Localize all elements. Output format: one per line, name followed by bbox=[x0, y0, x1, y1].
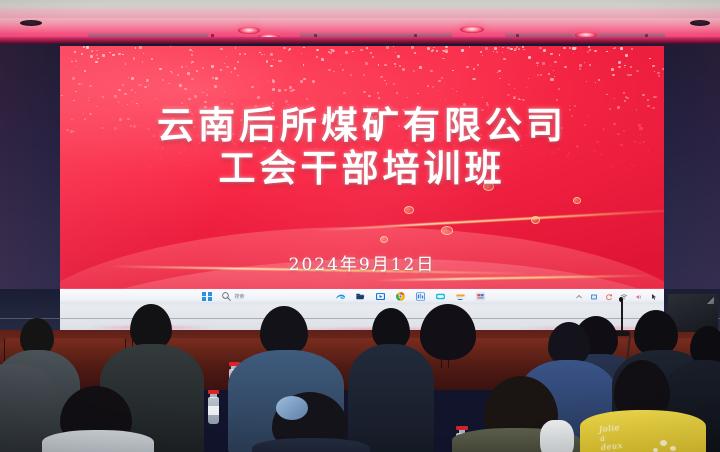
confetti-particle bbox=[624, 67, 626, 68]
confetti-particle bbox=[75, 60, 77, 62]
confetti-particle bbox=[264, 54, 265, 55]
confetti-particle bbox=[237, 61, 240, 63]
confetti-particle bbox=[363, 91, 366, 94]
confetti-particle bbox=[482, 55, 483, 56]
confetti-particle bbox=[184, 88, 187, 91]
confetti-particle bbox=[86, 46, 89, 48]
confetti-particle bbox=[536, 62, 539, 64]
confetti-particle bbox=[131, 77, 134, 80]
confetti-particle bbox=[102, 54, 105, 56]
ceiling-downlight bbox=[460, 26, 484, 33]
confetti-particle bbox=[618, 66, 621, 69]
confetti-particle bbox=[125, 63, 126, 64]
confetti-particle bbox=[330, 52, 333, 54]
confetti-particle bbox=[303, 78, 306, 81]
confetti-particle bbox=[588, 46, 590, 48]
confetti-particle bbox=[579, 68, 581, 70]
confetti-particle bbox=[558, 88, 560, 90]
confetti-particle bbox=[452, 70, 453, 71]
confetti-particle bbox=[443, 50, 445, 52]
confetti-particle bbox=[131, 89, 133, 91]
confetti-particle bbox=[653, 96, 656, 99]
confetti-particle bbox=[508, 84, 510, 86]
confetti-particle bbox=[96, 54, 99, 56]
confetti-particle bbox=[306, 98, 308, 100]
confetti-particle bbox=[394, 63, 396, 65]
confetti-particle bbox=[441, 77, 444, 79]
confetti-particle bbox=[102, 96, 104, 98]
confetti-particle bbox=[539, 47, 542, 49]
confetti-particle bbox=[345, 51, 348, 54]
confetti-particle bbox=[266, 60, 269, 62]
confetti-particle bbox=[257, 96, 260, 98]
confetti-particle bbox=[363, 74, 366, 76]
confetti-particle bbox=[513, 96, 516, 99]
hair-scrunchie bbox=[276, 396, 308, 420]
confetti-particle bbox=[159, 68, 162, 71]
ceiling-downlight-off bbox=[690, 20, 710, 26]
confetti-particle bbox=[192, 51, 193, 52]
confetti-particle bbox=[74, 51, 76, 53]
confetti-particle bbox=[523, 49, 525, 51]
white-collar bbox=[540, 420, 574, 452]
confetti-particle bbox=[636, 70, 639, 73]
screen-title-line-1: 云南后所煤矿有限公司 bbox=[60, 104, 664, 146]
confetti-particle bbox=[647, 99, 649, 101]
confetti-particle bbox=[445, 46, 448, 48]
confetti-particle bbox=[402, 68, 405, 71]
confetti-particle bbox=[278, 60, 281, 63]
confetti-particle bbox=[395, 52, 396, 53]
led-screen: 云南后所煤矿有限公司 工会干部培训班 2024年9月12日 bbox=[60, 46, 664, 289]
confetti-particle bbox=[606, 51, 608, 53]
confetti-particle bbox=[378, 97, 380, 99]
confetti-particle bbox=[620, 47, 623, 50]
confetti-particle bbox=[273, 59, 274, 60]
confetti-particle bbox=[485, 47, 488, 50]
confetti-particle bbox=[386, 46, 389, 49]
confetti-particle bbox=[316, 49, 319, 52]
confetti-particle bbox=[553, 70, 554, 71]
confetti-particle bbox=[510, 48, 512, 50]
confetti-particle bbox=[554, 61, 557, 64]
confetti-particle bbox=[234, 67, 237, 69]
confetti-particle bbox=[188, 98, 191, 100]
confetti-particle bbox=[572, 47, 575, 50]
confetti-particle bbox=[328, 69, 331, 72]
confetti-particle bbox=[548, 73, 550, 75]
confetti-particle bbox=[92, 51, 93, 52]
confetti-particle bbox=[393, 46, 395, 47]
confetti-particle bbox=[143, 53, 144, 54]
confetti-particle bbox=[300, 80, 303, 83]
confetti-particle bbox=[461, 49, 464, 52]
confetti-particle bbox=[109, 52, 111, 53]
confetti-particle bbox=[473, 68, 475, 70]
confetti-particle bbox=[399, 65, 401, 66]
confetti-particle bbox=[550, 78, 553, 81]
confetti-particle bbox=[542, 62, 545, 65]
confetti-particle bbox=[507, 94, 510, 97]
confetti-particle bbox=[122, 84, 125, 86]
confetti-particle bbox=[118, 53, 121, 56]
confetti-particle bbox=[657, 72, 659, 74]
confetti-particle bbox=[370, 52, 373, 54]
confetti-particle bbox=[214, 85, 217, 88]
jacket-flower-motif bbox=[660, 440, 667, 446]
confetti-particle bbox=[497, 72, 498, 73]
confetti-particle bbox=[340, 64, 341, 65]
confetti-particle bbox=[629, 74, 632, 76]
confetti-particle bbox=[360, 49, 363, 51]
confetti-particle bbox=[321, 58, 324, 61]
confetti-particle bbox=[124, 93, 126, 95]
confetti-particle bbox=[251, 86, 253, 88]
confetti-particle bbox=[118, 89, 120, 91]
confetti-particle bbox=[135, 47, 137, 49]
confetti-particle bbox=[272, 79, 274, 81]
confetti-particle bbox=[611, 68, 614, 71]
confetti-particle bbox=[278, 89, 281, 92]
confetti-particle bbox=[88, 97, 89, 98]
confetti-particle bbox=[244, 53, 246, 55]
jacket-print-text: Jolie a deux bbox=[599, 423, 624, 452]
confetti-particle bbox=[496, 51, 499, 53]
confetti-particle bbox=[352, 51, 354, 53]
confetti-particle bbox=[514, 88, 515, 89]
confetti-particle bbox=[498, 70, 500, 72]
confetti-particle bbox=[151, 58, 154, 60]
confetti-particle bbox=[438, 90, 439, 91]
confetti-particle bbox=[144, 86, 147, 89]
confetti-particle bbox=[589, 64, 591, 66]
confetti-particle bbox=[612, 74, 614, 76]
confetti-particle bbox=[333, 71, 334, 72]
confetti-particle bbox=[186, 66, 188, 68]
confetti-particle bbox=[82, 83, 83, 84]
confetti-particle bbox=[350, 74, 352, 76]
confetti-particle bbox=[519, 99, 521, 100]
confetti-particle bbox=[528, 78, 529, 79]
confetti-particle bbox=[652, 65, 654, 67]
confetti-particle bbox=[419, 66, 422, 69]
confetti-particle bbox=[386, 83, 388, 84]
confetti-particle bbox=[614, 47, 617, 49]
confetti-particle bbox=[170, 46, 171, 47]
confetti-particle bbox=[482, 97, 484, 98]
confetti-particle bbox=[202, 67, 205, 69]
confetti-particle bbox=[226, 56, 227, 57]
confetti-particle bbox=[550, 65, 551, 66]
confetti-particle bbox=[194, 95, 197, 98]
confetti-particle bbox=[95, 61, 98, 64]
confetti-particle bbox=[83, 46, 85, 48]
confetti-particle bbox=[466, 66, 469, 69]
confetti-particle bbox=[384, 80, 386, 81]
confetti-particle bbox=[301, 53, 303, 54]
confetti-particle bbox=[477, 64, 479, 66]
confetti-particle bbox=[502, 52, 504, 54]
confetti-particle bbox=[303, 64, 305, 65]
confetti-particle bbox=[480, 51, 482, 53]
confetti-particle bbox=[202, 92, 204, 94]
confetti-particle bbox=[368, 95, 371, 98]
audience: Jolie a deux bbox=[0, 300, 720, 452]
confetti-particle bbox=[303, 47, 305, 49]
confetti-particle bbox=[288, 49, 290, 51]
confetti-particle bbox=[146, 79, 149, 82]
confetti-particle bbox=[289, 86, 292, 89]
confetti-particle bbox=[114, 95, 117, 98]
confetti-particle bbox=[211, 65, 214, 68]
confetti-particle bbox=[411, 46, 414, 49]
confetti-particle bbox=[614, 98, 615, 99]
confetti-particle bbox=[220, 48, 223, 51]
confetti-particle bbox=[414, 52, 416, 54]
confetti-particle bbox=[543, 49, 546, 52]
confetti-particle bbox=[563, 47, 566, 50]
confetti-particle bbox=[226, 66, 228, 68]
confetti-particle bbox=[642, 94, 645, 97]
confetti-particle bbox=[445, 51, 448, 53]
confetti-particle bbox=[191, 78, 193, 80]
confetti-particle bbox=[196, 70, 198, 72]
conference-room-photo: 云南后所煤矿有限公司 工会干部培训班 2024年9月12日 搜索 bbox=[0, 0, 720, 452]
confetti-particle bbox=[407, 97, 409, 98]
confetti-particle bbox=[433, 47, 435, 49]
confetti-particle bbox=[573, 53, 574, 54]
confetti-particle bbox=[625, 54, 628, 57]
confetti-particle bbox=[556, 99, 558, 101]
confetti-particle bbox=[579, 64, 582, 67]
confetti-particle bbox=[133, 57, 136, 59]
confetti-particle bbox=[270, 65, 273, 68]
confetti-particle bbox=[312, 80, 315, 83]
confetti-particle bbox=[235, 47, 237, 48]
confetti-particle bbox=[237, 75, 238, 76]
confetti-particle bbox=[438, 80, 441, 82]
confetti-particle bbox=[162, 79, 165, 81]
confetti-particle bbox=[528, 56, 531, 59]
confetti-particle bbox=[649, 58, 651, 60]
confetti-particle bbox=[191, 54, 193, 56]
confetti-particle bbox=[135, 92, 137, 93]
confetti-particle bbox=[61, 95, 63, 97]
confetti-particle bbox=[624, 65, 626, 67]
ceiling-band bbox=[0, 18, 720, 32]
confetti-particle bbox=[427, 47, 430, 50]
confetti-particle bbox=[537, 74, 540, 76]
confetti-particle bbox=[73, 100, 75, 102]
confetti-particle bbox=[624, 100, 626, 102]
gold-bubble bbox=[573, 197, 581, 204]
confetti-particle bbox=[168, 83, 170, 84]
confetti-particle bbox=[343, 92, 346, 95]
confetti-particle bbox=[179, 84, 182, 87]
confetti-particle bbox=[658, 75, 661, 77]
confetti-particle bbox=[417, 93, 419, 94]
confetti-particle bbox=[239, 53, 242, 55]
confetti-particle bbox=[456, 91, 457, 92]
confetti-particle bbox=[181, 66, 183, 68]
confetti-particle bbox=[177, 74, 180, 76]
screen-title-block: 云南后所煤矿有限公司 工会干部培训班 bbox=[60, 104, 664, 190]
confetti-particle bbox=[559, 54, 561, 56]
confetti-particle bbox=[598, 79, 600, 81]
confetti-particle bbox=[122, 54, 124, 56]
confetti-particle bbox=[97, 58, 99, 59]
confetti-particle bbox=[493, 51, 494, 52]
confetti-particle bbox=[432, 86, 435, 88]
confetti-particle bbox=[268, 80, 270, 81]
confetti-particle bbox=[606, 94, 607, 95]
confetti-particle bbox=[393, 83, 395, 85]
search-placeholder-text: 搜索 bbox=[235, 293, 245, 300]
confetti-particle bbox=[292, 89, 295, 91]
confetti-particle bbox=[443, 58, 445, 60]
confetti-particle bbox=[380, 76, 382, 78]
confetti-particle bbox=[112, 54, 115, 56]
confetti-particle bbox=[88, 100, 90, 101]
confetti-particle bbox=[365, 62, 368, 65]
confetti-particle bbox=[191, 63, 193, 64]
confetti-particle bbox=[494, 47, 497, 50]
confetti-particle bbox=[395, 66, 397, 67]
confetti-particle bbox=[522, 99, 524, 101]
confetti-particle bbox=[618, 61, 621, 64]
confetti-particle bbox=[569, 47, 571, 49]
confetti-particle bbox=[366, 47, 368, 49]
confetti-particle bbox=[503, 58, 506, 61]
confetti-particle bbox=[514, 50, 516, 52]
confetti-particle bbox=[518, 48, 520, 50]
jacket-flower-motif bbox=[670, 446, 676, 451]
confetti-particle bbox=[215, 77, 218, 80]
ceiling bbox=[0, 0, 720, 46]
jacket-flower-motif bbox=[653, 448, 658, 452]
confetti-particle bbox=[330, 49, 331, 50]
confetti-particle bbox=[372, 56, 374, 58]
confetti-particle bbox=[586, 81, 587, 82]
confetti-particle bbox=[72, 77, 75, 79]
confetti-particle bbox=[430, 70, 432, 72]
confetti-particle bbox=[587, 51, 589, 52]
confetti-particle bbox=[540, 74, 543, 76]
confetti-particle bbox=[132, 101, 134, 102]
confetti-particle bbox=[436, 50, 438, 52]
confetti-particle bbox=[631, 48, 633, 50]
confetti-particle bbox=[84, 70, 87, 72]
confetti-particle bbox=[630, 66, 632, 68]
confetti-particle bbox=[156, 98, 157, 99]
confetti-particle bbox=[90, 55, 93, 58]
confetti-particle bbox=[654, 71, 655, 72]
confetti-particle bbox=[78, 83, 81, 86]
gold-bubble bbox=[380, 236, 388, 243]
confetti-particle bbox=[396, 92, 398, 94]
confetti-particle bbox=[316, 56, 318, 57]
confetti-particle bbox=[283, 47, 286, 49]
confetti-particle bbox=[526, 87, 527, 88]
confetti-particle bbox=[537, 65, 538, 66]
confetti-particle bbox=[584, 62, 585, 63]
confetti-particle bbox=[469, 46, 471, 48]
confetti-particle bbox=[427, 85, 429, 87]
confetti-particle bbox=[206, 94, 208, 96]
confetti-particle bbox=[499, 78, 500, 79]
confetti-particle bbox=[397, 55, 400, 58]
confetti-particle bbox=[148, 85, 149, 86]
confetti-particle bbox=[554, 76, 555, 77]
confetti-particle bbox=[284, 89, 287, 91]
confetti-particle bbox=[231, 71, 233, 72]
confetti-particle bbox=[564, 66, 566, 68]
confetti-particle bbox=[270, 53, 273, 55]
confetti-particle bbox=[502, 47, 503, 48]
confetti-particle bbox=[384, 64, 387, 67]
confetti-particle bbox=[442, 53, 443, 54]
confetti-particle bbox=[413, 70, 415, 72]
confetti-particle bbox=[71, 61, 73, 63]
confetti-particle bbox=[142, 62, 144, 63]
confetti-particle bbox=[261, 54, 263, 56]
confetti-particle bbox=[89, 85, 92, 87]
confetti-particle bbox=[220, 69, 222, 70]
confetti-particle bbox=[272, 88, 275, 91]
confetti-particle bbox=[212, 77, 214, 79]
confetti-particle bbox=[594, 50, 597, 52]
confetti-particle bbox=[139, 46, 142, 49]
gold-bubble bbox=[441, 226, 453, 235]
screen-date: 2024年9月12日 bbox=[60, 250, 664, 275]
confetti-particle bbox=[595, 82, 596, 83]
confetti-particle bbox=[224, 63, 225, 64]
confetti-particle bbox=[550, 53, 553, 56]
confetti-particle bbox=[224, 91, 225, 92]
confetti-particle bbox=[128, 77, 129, 78]
confetti-particle bbox=[342, 69, 345, 71]
ceiling-downlight-off bbox=[20, 20, 42, 26]
ceiling-downlight bbox=[238, 27, 260, 34]
confetti-particle bbox=[377, 92, 379, 94]
confetti-particle bbox=[378, 64, 380, 66]
confetti-particle bbox=[96, 50, 98, 52]
confetti-particle bbox=[76, 66, 78, 68]
confetti-particle bbox=[662, 68, 664, 70]
confetti-particle bbox=[589, 49, 591, 51]
confetti-particle bbox=[207, 89, 209, 90]
confetti-particle bbox=[75, 91, 77, 93]
confetti-particle bbox=[171, 72, 174, 74]
confetti-particle bbox=[452, 88, 453, 89]
confetti-particle bbox=[522, 46, 525, 48]
screen-title-line-2: 工会干部培训班 bbox=[60, 146, 664, 190]
confetti-particle bbox=[81, 53, 83, 54]
confetti-particle bbox=[623, 92, 626, 94]
confetti-particle bbox=[445, 100, 446, 101]
confetti-particle bbox=[187, 72, 190, 75]
